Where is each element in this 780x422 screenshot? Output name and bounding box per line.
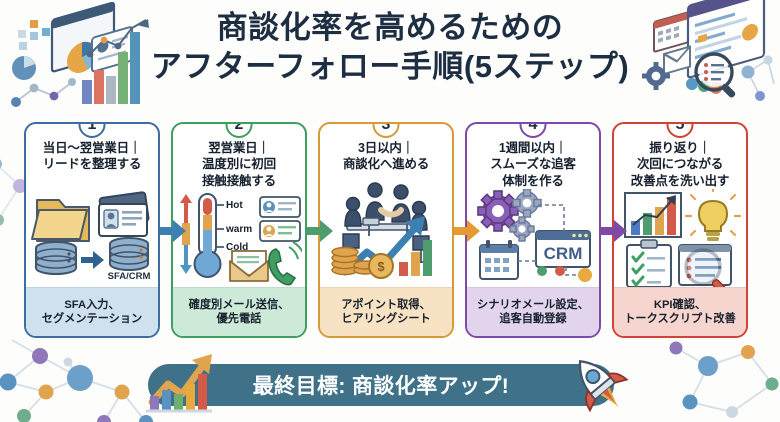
- step2-illustration: Hot warm Cold: [176, 189, 302, 287]
- contact-row-icon: [260, 197, 300, 217]
- steps-row: 1 当日〜翌営業日｜ リードを整理する: [20, 122, 760, 340]
- thermometer-icon: [195, 194, 221, 277]
- contact-row-icon: [260, 221, 300, 241]
- folder-icon: [32, 200, 89, 241]
- step-card-3[interactable]: 3 3日以内｜ 商談化へ進める: [318, 122, 454, 338]
- step3-illustration: $: [323, 178, 449, 282]
- step1-illustration: SFA/CRM: [29, 178, 155, 282]
- step4-art-label: CRM: [544, 244, 583, 263]
- network-nodes-illustration: [660, 332, 780, 422]
- step-title-4: 1週間以内｜ スムーズな追客 体制を作る: [467, 140, 599, 189]
- down-arrow-icon: [180, 245, 192, 274]
- step-art-2: Hot warm Cold: [173, 189, 305, 287]
- step-footer-3: アポイント取得、 ヒアリングシート: [320, 287, 452, 336]
- step-art-3: $: [320, 173, 452, 288]
- step-title-3: 3日以内｜ 商談化へ進める: [320, 140, 452, 173]
- step-number-badge-4: 4: [520, 122, 547, 138]
- gear-icon: [478, 191, 518, 231]
- step1-art-label: SFA/CRM: [108, 271, 151, 282]
- connector-3-4: [454, 218, 482, 244]
- step-title-2: 翌営業日｜ 温度別に初回 接触接触する: [173, 140, 305, 189]
- step-card-1[interactable]: 1 当日〜翌営業日｜ リードを整理する: [24, 122, 160, 338]
- network-nodes-illustration: [0, 330, 154, 422]
- step-title-5: 振り返り｜ 次回につながる 改善点を洗い出す: [614, 140, 746, 189]
- contact-card-icon: [99, 192, 149, 236]
- step-footer-4: シナリオメール設定、 追客自動登録: [467, 287, 599, 336]
- step-footer-5: KPI確認、 トークスクリプト改善: [614, 287, 746, 336]
- step-art-4: CRM: [467, 189, 599, 287]
- calendar-icon: [480, 240, 518, 279]
- step-number-badge-5: 5: [667, 122, 694, 138]
- step-card-2[interactable]: 2 翌営業日｜ 温度別に初回 接触接触する: [171, 122, 307, 338]
- thermo-label-warm: warm: [225, 224, 252, 235]
- connector-4-5: [601, 218, 629, 244]
- step-card-5[interactable]: 5 振り返り｜ 次回につながる 改善点を洗い出す: [612, 122, 748, 338]
- thermo-label-hot: Hot: [226, 200, 243, 211]
- infographic-canvas: 商談化率を高めるための アフターフォロー手順(5ステップ) 1 当日〜翌営業日｜…: [0, 0, 780, 422]
- step4-illustration: CRM: [470, 189, 596, 287]
- step-title-1: 当日〜翌営業日｜ リードを整理する: [26, 140, 158, 173]
- crm-window-icon: CRM: [536, 231, 590, 267]
- envelope-icon: [230, 251, 268, 281]
- step-number-badge-1: 1: [79, 122, 106, 138]
- connector-2-3: [307, 218, 335, 244]
- step-art-1: SFA/CRM: [26, 173, 158, 288]
- step-footer-1: SFA入力、 セグメンテーション: [26, 287, 158, 336]
- rocket-icon: [568, 352, 632, 418]
- growth-chart-icon: [142, 350, 220, 416]
- database-icon: [36, 242, 76, 274]
- step-card-4[interactable]: 4 1週間以内｜ スムーズな追客 体制を作る: [465, 122, 601, 338]
- step-art-5: [614, 189, 746, 287]
- step-number-badge-3: 3: [373, 122, 400, 138]
- page-title: 商談化率を高めるための アフターフォロー手順(5ステップ): [0, 8, 780, 86]
- checklist-icon: [627, 240, 671, 287]
- svg-text:$: $: [377, 259, 385, 274]
- goal-banner[interactable]: 最終目標: 商談化率アップ!: [148, 364, 614, 406]
- database-icon: [110, 238, 148, 270]
- arrow-right-icon: [81, 251, 104, 269]
- step-footer-2: 確度別メール送信、 優先電話: [173, 287, 305, 336]
- title-line-1: 商談化率を高めるための: [0, 8, 780, 47]
- step5-illustration: [617, 189, 743, 287]
- goal-banner-text: 最終目標: 商談化率アップ!: [253, 370, 509, 400]
- magnifier-report-icon: [679, 245, 731, 287]
- lightbulb-icon: [686, 189, 740, 241]
- connector-1-2: [160, 218, 188, 244]
- phone-icon: [269, 242, 302, 285]
- bar-chart-icon: [625, 193, 681, 237]
- title-line-2: アフターフォロー手順(5ステップ): [0, 47, 780, 86]
- step-number-badge-2: 2: [226, 122, 253, 138]
